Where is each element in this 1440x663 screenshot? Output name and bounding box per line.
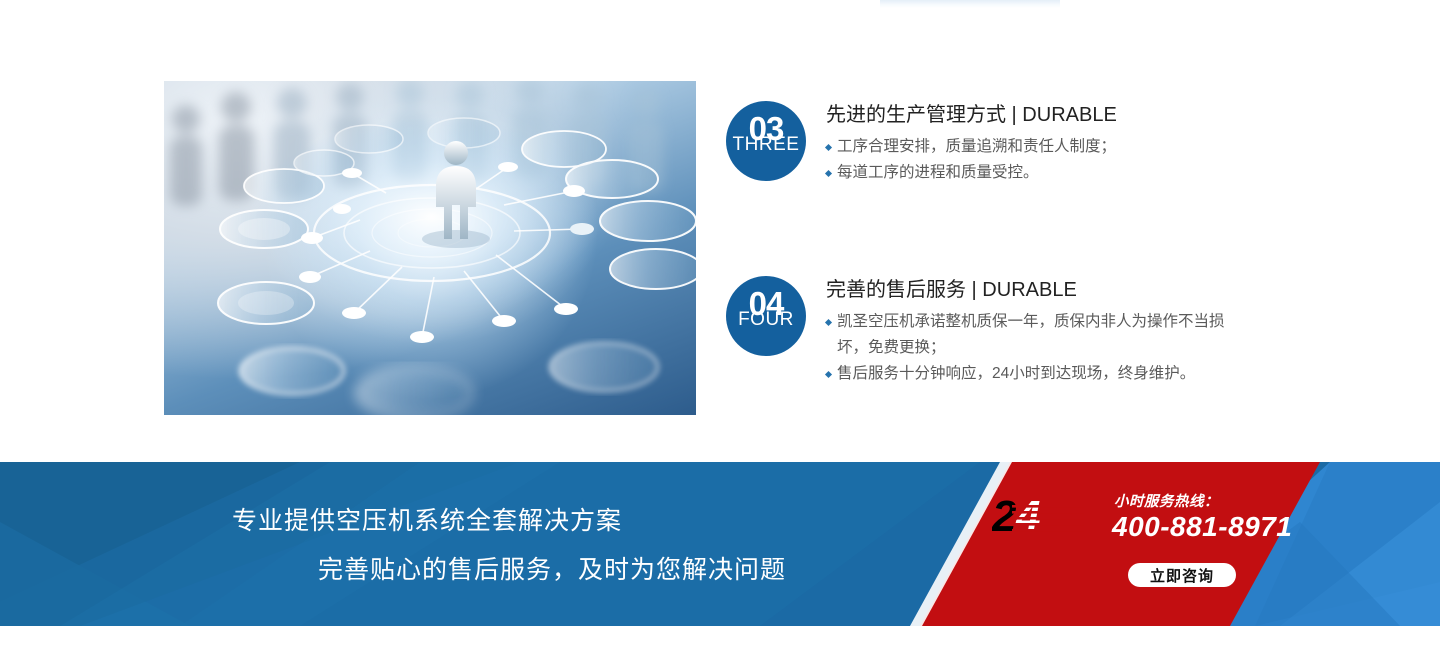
feature-list-item: 售后服务十分钟响应，24小时到达现场，终身维护。: [826, 361, 1238, 387]
hours-24-logo: 2 4: [992, 491, 1122, 539]
hotline-label: 小时服务热线：: [1114, 494, 1219, 511]
hotline-phone-number[interactable]: 400-881-8971: [1112, 511, 1292, 543]
promo-page: 03 THREE 先进的生产管理方式 | DURABLE 工序合理安排，质量追溯…: [0, 0, 1440, 663]
feature-list-03: 工序合理安排，质量追溯和责任人制度； 每道工序的进程和质量受控。: [826, 134, 1246, 186]
hotline-panel: 2 4 小时服务热线： 400-881-8971 立即咨询: [986, 462, 1286, 626]
feature-body-04: 完善的售后服务 | DURABLE 凯圣空压机承诺整机质保一年，质保内非人为操作…: [826, 276, 1238, 387]
feature-list-04: 凯圣空压机承诺整机质保一年，质保内非人为操作不当损坏，免费更换； 售后服务十分钟…: [826, 309, 1238, 387]
feature-title-03: 先进的生产管理方式 | DURABLE: [826, 102, 1246, 128]
feature-list-item: 每道工序的进程和质量受控。: [826, 160, 1246, 186]
svg-text:4: 4: [1015, 492, 1040, 539]
hours-24-graphic: 2 4: [992, 491, 1122, 539]
feature-title-04: 完善的售后服务 | DURABLE: [826, 277, 1238, 303]
banner-line-2: 完善贴心的售后服务，及时为您解决问题: [318, 555, 786, 585]
feature-body-03: 先进的生产管理方式 | DURABLE 工序合理安排，质量追溯和责任人制度； 每…: [826, 101, 1246, 186]
badge-03: 03 THREE: [726, 101, 806, 181]
badge-04: 04 FOUR: [726, 276, 806, 356]
banner-copy: 专业提供空压机系统全套解决方案 完善贴心的售后服务，及时为您解决问题: [0, 462, 1000, 626]
hours-digit-4-striped: 4: [1012, 492, 1084, 539]
top-cutoff-strip: [880, 0, 1060, 8]
banner-line-1: 专业提供空压机系统全套解决方案: [232, 506, 622, 536]
feature-block-04: 04 FOUR 完善的售后服务 | DURABLE 凯圣空压机承诺整机质保一年，…: [726, 276, 1238, 387]
consult-now-button[interactable]: 立即咨询: [1128, 563, 1236, 587]
badge-word: THREE: [726, 134, 806, 156]
hours-digit-2: 2: [992, 492, 1017, 539]
badge-word: FOUR: [726, 309, 806, 331]
feature-list-item: 工序合理安排，质量追溯和责任人制度；: [826, 134, 1246, 160]
feature-block-03: 03 THREE 先进的生产管理方式 | DURABLE 工序合理安排，质量追溯…: [726, 101, 1246, 186]
illustration-graphics: [164, 81, 696, 415]
network-concept-illustration: [164, 81, 696, 415]
feature-list-item: 凯圣空压机承诺整机质保一年，质保内非人为操作不当损坏，免费更换；: [826, 309, 1238, 361]
